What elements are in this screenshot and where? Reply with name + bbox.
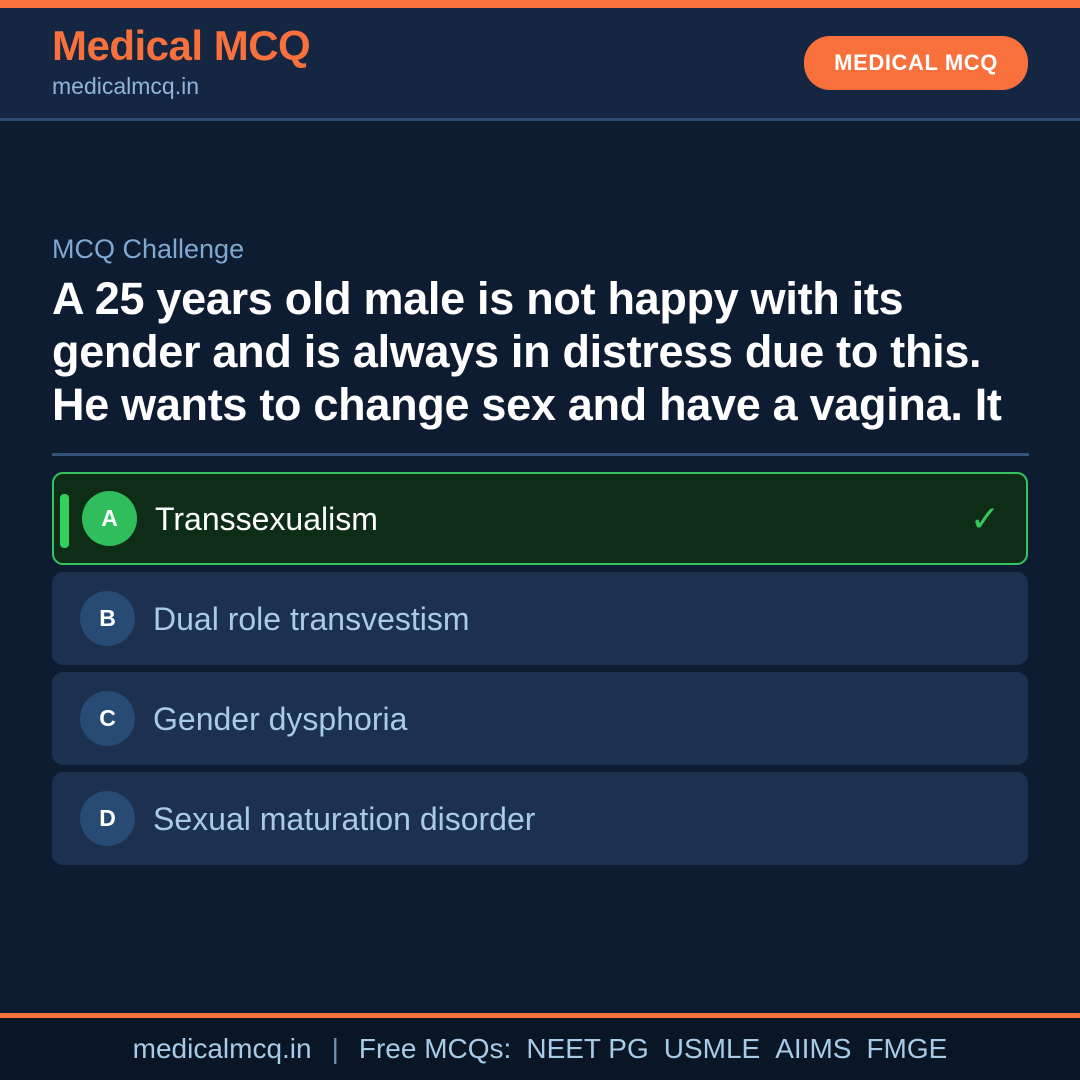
option-letter-badge: A — [82, 491, 137, 546]
option-c[interactable]: CGender dysphoria✓ — [52, 672, 1028, 765]
brand-block: Medical MCQ medicalmcq.in — [52, 24, 310, 101]
footer-exam-neet-pg[interactable]: NEET PG — [526, 1033, 648, 1064]
mcq-card-root: Medical MCQ medicalmcq.in MEDICAL MCQ MC… — [0, 0, 1080, 1080]
option-letter-badge: B — [80, 591, 135, 646]
footer-exam-aiims[interactable]: AIIMS — [775, 1033, 851, 1064]
footer-exam-fmge[interactable]: FMGE — [866, 1033, 947, 1064]
correct-accent-bar — [60, 494, 69, 548]
brand-title: Medical MCQ — [52, 24, 310, 69]
option-text: Dual role transvestism — [153, 600, 960, 638]
option-text: Transsexualism — [155, 500, 958, 538]
footer-exam-list: NEET PGUSMLEAIIMSFMGE — [511, 1033, 947, 1065]
option-a[interactable]: ATranssexualism✓ — [52, 472, 1028, 565]
option-b[interactable]: BDual role transvestism✓ — [52, 572, 1028, 665]
option-letter-badge: D — [80, 791, 135, 846]
options-list: ATranssexualism✓BDual role transvestism✓… — [52, 472, 1028, 865]
footer-site-link[interactable]: medicalmcq.in — [133, 1033, 312, 1065]
question-area: MCQ Challenge A 25 years old male is not… — [0, 121, 1080, 1013]
page-footer: medicalmcq.in | Free MCQs: NEET PGUSMLEA… — [0, 1013, 1080, 1080]
top-accent-bar — [0, 0, 1080, 8]
footer-exam-usmle[interactable]: USMLE — [664, 1033, 760, 1064]
question-text: A 25 years old male is not happy with it… — [52, 273, 1012, 431]
option-letter-badge: C — [80, 691, 135, 746]
question-kicker: MCQ Challenge — [52, 233, 1028, 265]
footer-label: Free MCQs: — [359, 1033, 511, 1065]
check-icon: ✓ — [970, 501, 1000, 537]
option-text: Gender dysphoria — [153, 700, 960, 738]
option-text: Sexual maturation disorder — [153, 800, 960, 838]
footer-content: medicalmcq.in | Free MCQs: NEET PGUSMLEA… — [133, 1033, 948, 1065]
brand-subtitle: medicalmcq.in — [52, 72, 310, 102]
page-header: Medical MCQ medicalmcq.in MEDICAL MCQ — [0, 8, 1080, 121]
footer-separator: | — [332, 1033, 339, 1065]
brand-badge[interactable]: MEDICAL MCQ — [804, 36, 1028, 90]
option-d[interactable]: DSexual maturation disorder✓ — [52, 772, 1028, 865]
question-divider — [52, 453, 1029, 456]
